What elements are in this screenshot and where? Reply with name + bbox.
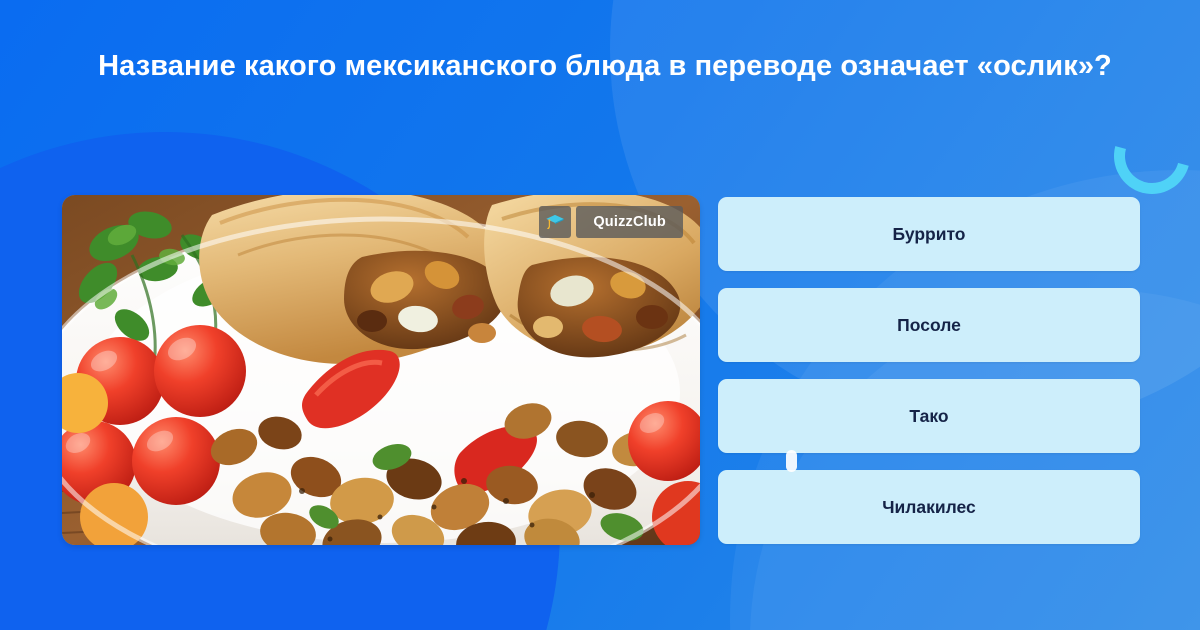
food-photo-illustration [62, 195, 700, 545]
graduation-cap-icon [539, 206, 571, 238]
answer-option-4-label: Чилакилес [882, 497, 976, 518]
answer-option-1-label: Буррито [892, 224, 965, 245]
answer-options-list: Буррито Посоле Тако Чилакилес [718, 197, 1140, 544]
brand-name: QuizzClub [576, 206, 683, 238]
answer-option-4[interactable]: Чилакилес [718, 470, 1140, 544]
answer-option-3[interactable]: Тако [718, 379, 1140, 453]
quiz-question-card: Название какого мексиканского блюда в пе… [0, 0, 1200, 630]
answer-option-2[interactable]: Посоле [718, 288, 1140, 362]
brand-watermark: QuizzClub [539, 206, 683, 238]
answer-option-1[interactable]: Буррито [718, 197, 1140, 271]
question-image: QuizzClub [62, 195, 700, 545]
cyan-arc-decoration-icon [1100, 104, 1200, 208]
page-title: Название какого мексиканского блюда в пе… [60, 46, 1150, 86]
answer-option-2-label: Посоле [897, 315, 961, 336]
answer-option-3-label: Тако [909, 406, 948, 427]
